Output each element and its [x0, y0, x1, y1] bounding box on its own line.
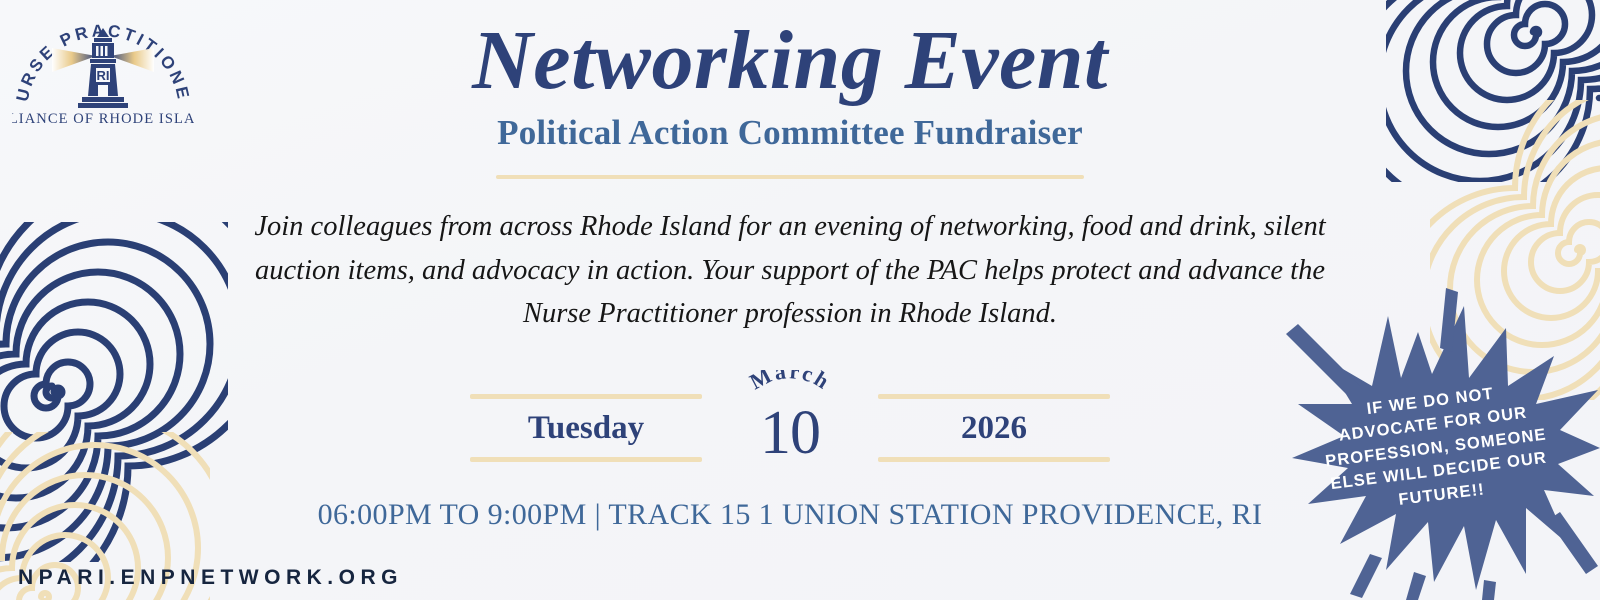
organization-logo: NURSE PRACTITIONER RI	[12, 4, 194, 128]
spiral-icon-left-navy	[0, 222, 228, 562]
event-time-venue: 06:00PM TO 9:00PM | TRACK 15 1 UNION STA…	[200, 498, 1380, 532]
weekday-divider-bottom	[470, 457, 702, 462]
event-weekday: Tuesday	[470, 399, 702, 457]
date-weekday-block: Tuesday	[470, 372, 702, 462]
event-description: Join colleagues from across Rhode Island…	[245, 205, 1335, 337]
date-month-day-block: March 10	[702, 372, 878, 472]
spiral-icon-topright-navy	[1386, 0, 1600, 182]
year-divider-bottom	[878, 457, 1110, 462]
title-divider	[496, 175, 1084, 179]
logo-bottom-text: ALLIANCE OF RHODE ISLAND	[12, 111, 194, 127]
event-month: March	[745, 370, 835, 395]
event-date-row: Tuesday March 10	[470, 372, 1110, 472]
website-url[interactable]: NPARI.ENPNETWORK.ORG	[18, 566, 403, 590]
svg-text:March: March	[745, 370, 835, 395]
advocacy-quote-badge: IF WE DO NOT ADVOCATE FOR OUR PROFESSION…	[1268, 282, 1600, 600]
banner-content: Networking Event Political Action Commit…	[200, 0, 1380, 600]
event-banner: NURSE PRACTITIONER RI	[0, 0, 1600, 600]
event-day: 10	[702, 402, 878, 464]
date-year-block: 2026	[878, 372, 1110, 462]
event-year: 2026	[878, 399, 1110, 457]
page-subtitle: Political Action Committee Fundraiser	[200, 107, 1380, 153]
page-title: Networking Event	[200, 0, 1380, 107]
logo-initials: RI	[97, 68, 110, 83]
